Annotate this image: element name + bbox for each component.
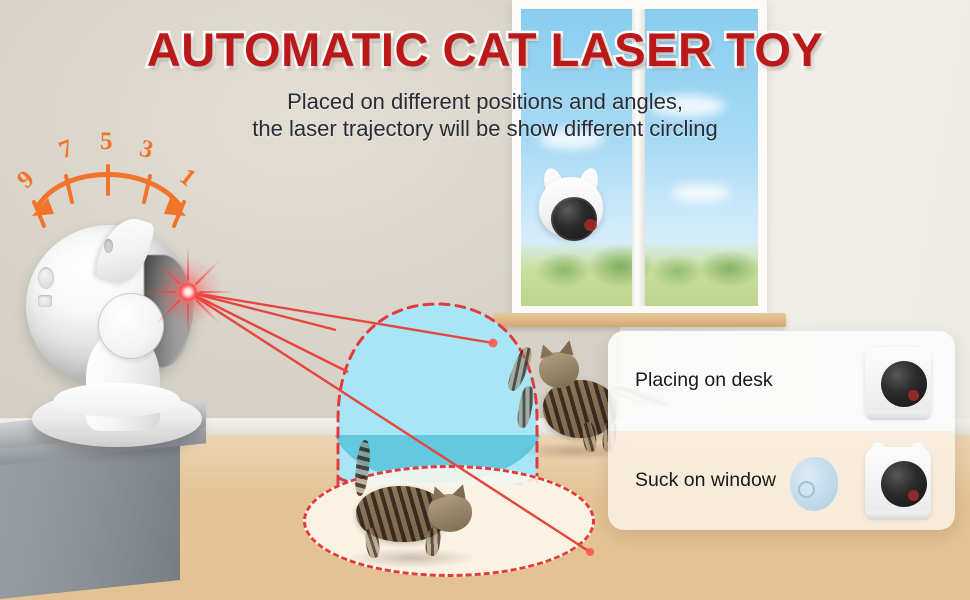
laser-core <box>179 283 197 301</box>
placement-row-window[interactable]: Suck on window <box>608 431 955 531</box>
placement-label-desk: Placing on desk <box>635 369 773 392</box>
device-red-accent <box>908 390 919 401</box>
placement-row-desk[interactable]: Placing on desk <box>608 331 955 431</box>
laser-device-front-icon <box>859 341 937 421</box>
device-red-accent <box>908 490 919 501</box>
subtitle-line-2: the laser trajectory will be show differ… <box>0 115 970 142</box>
page-title: AUTOMATIC CAT LASER TOY <box>0 22 970 77</box>
angle-gauge: 9 7 5 3 1 <box>18 140 208 235</box>
placement-card: Placing on desk Suck on window <box>608 331 955 530</box>
suction-cup-ring <box>798 481 815 498</box>
placement-label-window: Suck on window <box>635 469 776 492</box>
laser-lens-icon <box>881 361 927 407</box>
laser-device-front-icon <box>859 441 937 521</box>
device-stand <box>867 411 929 420</box>
device-stand <box>867 511 929 520</box>
product-marketing-image: 9 7 5 3 1 Placing on desk Suck on window <box>0 0 970 600</box>
device-frame <box>865 447 931 517</box>
subtitle-line-1: Placed on different positions and angles… <box>0 88 970 115</box>
page-subtitle: Placed on different positions and angles… <box>0 88 970 142</box>
suction-cup-icon <box>790 457 838 511</box>
device-frame <box>865 347 931 417</box>
laser-lens-icon <box>881 461 927 507</box>
